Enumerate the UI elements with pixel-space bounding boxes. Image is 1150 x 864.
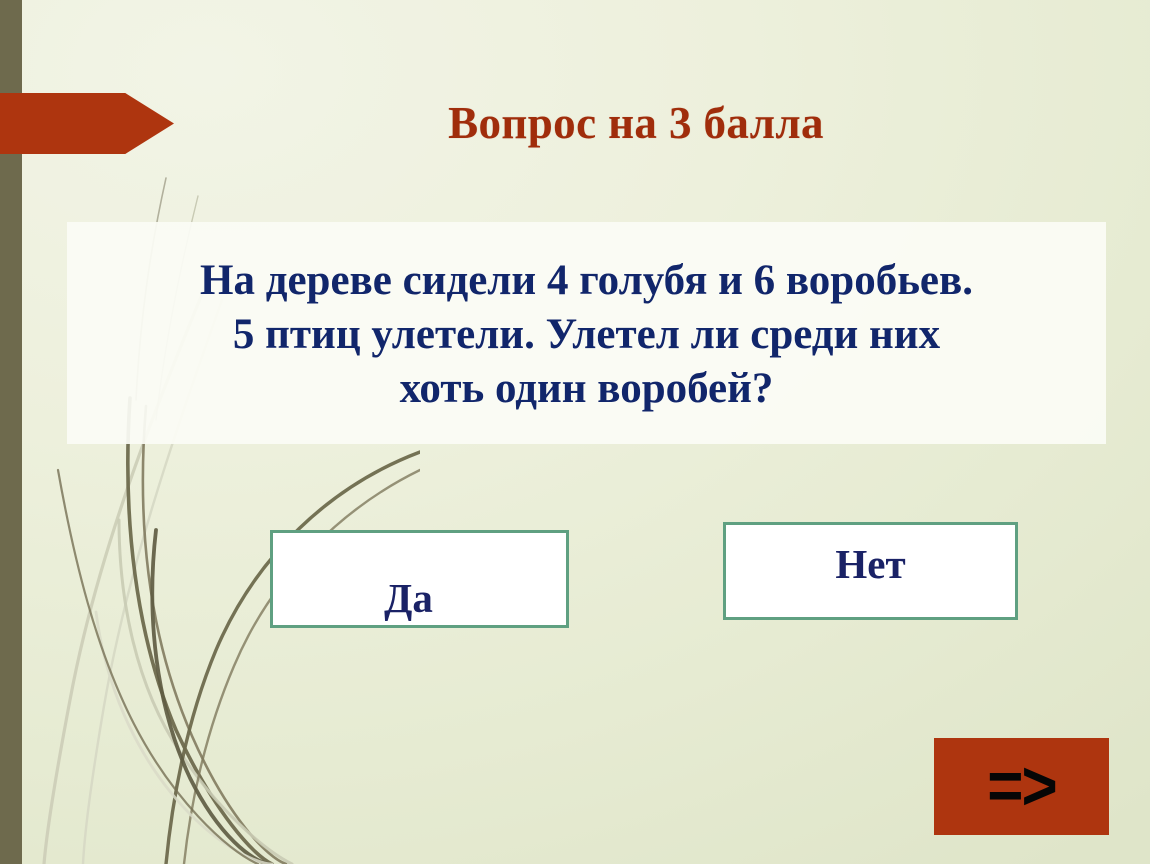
arrow-right-icon: => <box>987 752 1055 821</box>
title-arrow-banner <box>0 93 174 154</box>
answer-button-no[interactable]: Нет <box>723 522 1018 620</box>
answer-button-no-label: Нет <box>835 544 905 585</box>
answer-button-yes[interactable]: Да <box>270 530 569 628</box>
question-line-1: На дереве сидели 4 голубя и 6 воробьев. <box>200 254 973 308</box>
next-slide-button[interactable]: => <box>934 738 1109 835</box>
question-line-2: 5 птиц улетели. Улетел ли среди них <box>233 308 940 362</box>
question-line-3: хоть один воробей? <box>400 362 774 416</box>
question-panel: На дереве сидели 4 голубя и 6 воробьев. … <box>67 222 1106 444</box>
slide-canvas: Вопрос на 3 балла На дереве сидели 4 гол… <box>0 0 1150 864</box>
answer-button-yes-label: Да <box>384 578 433 619</box>
page-title: Вопрос на 3 балла <box>186 92 1086 154</box>
